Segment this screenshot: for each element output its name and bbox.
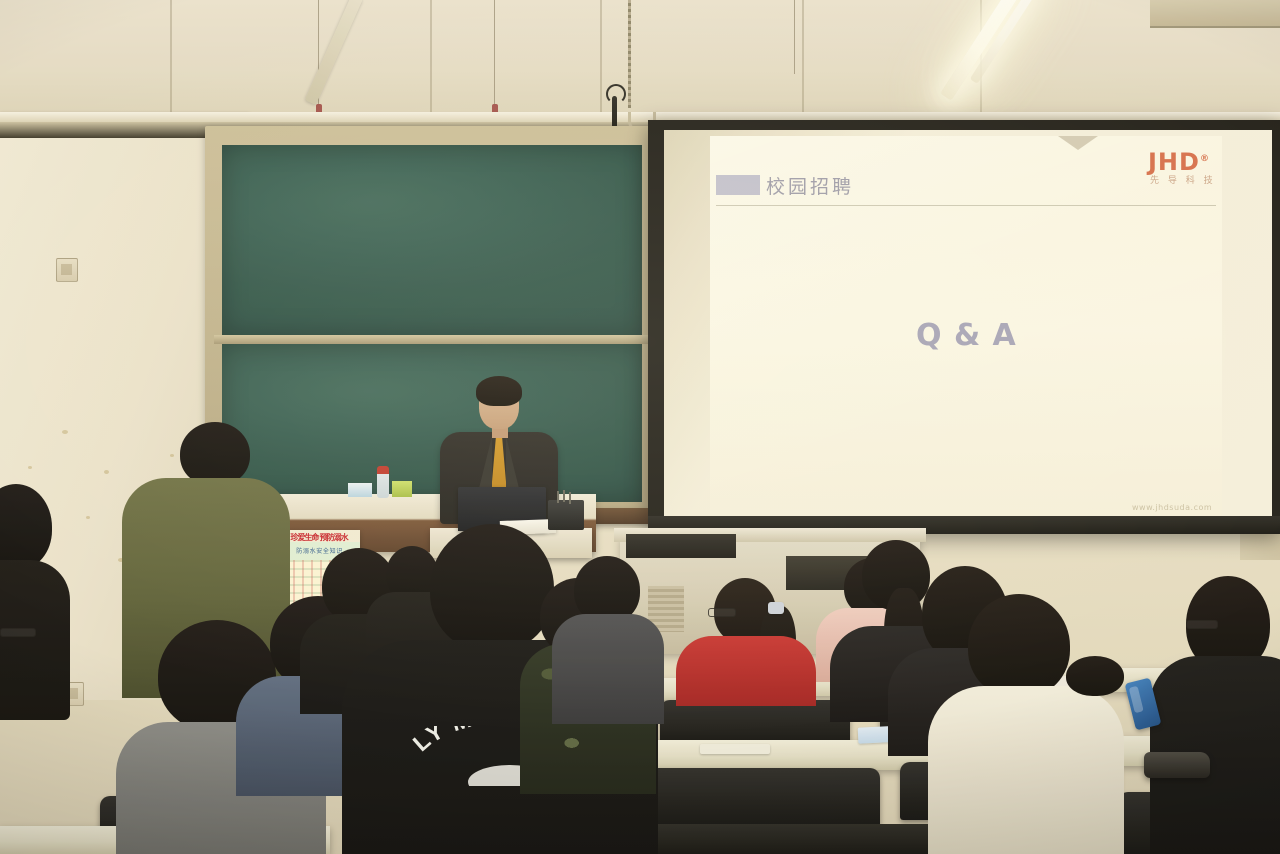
wall-outlet (56, 258, 78, 282)
wall-speck (170, 454, 174, 457)
slide-header-label: 校园招聘 (766, 172, 854, 199)
glasses-icon (708, 608, 736, 617)
jhd-logo: JHD® (1148, 148, 1210, 176)
jhd-logo-subtext: 先 导 科 技 (1150, 173, 1216, 186)
torso (552, 614, 664, 724)
hanger-wire (794, 0, 795, 74)
wall-speck (28, 466, 32, 469)
blackboard-upper-panel (222, 145, 642, 335)
phone-screen-glare (1129, 686, 1144, 713)
camera-bag (1144, 752, 1210, 778)
head (1066, 656, 1124, 696)
wall-speck (104, 470, 109, 474)
torso (928, 686, 1124, 854)
glasses-icon (1186, 620, 1218, 629)
projection-notch (1058, 136, 1098, 150)
slide-footer-url: www.jhdsuda.com (1132, 503, 1212, 512)
audio-equipment (548, 500, 584, 530)
pen-icon (557, 491, 559, 503)
head (968, 594, 1070, 698)
ceiling-seam (170, 0, 172, 118)
chair (640, 768, 880, 828)
poster-headline: 珍爱生命 预防溺水 (278, 532, 360, 543)
green-box (392, 481, 412, 497)
head (430, 524, 554, 652)
hair-clip-icon (768, 602, 784, 614)
pen-icon (569, 492, 571, 504)
water-bottle (377, 466, 389, 498)
slide-body-text: Q & A (916, 318, 1017, 353)
glasses-icon (0, 628, 36, 637)
blackboard-lower-panel (222, 344, 642, 502)
printer (626, 534, 736, 558)
hanging-chain (628, 0, 631, 108)
torso (676, 636, 816, 706)
ceiling-seam (600, 0, 602, 118)
tissue-box (348, 483, 372, 497)
torso (0, 560, 70, 720)
wall-speck (86, 516, 90, 519)
slide-header-rule (716, 205, 1216, 206)
registered-mark-icon: ® (1200, 154, 1210, 164)
blackboard-divider (214, 335, 650, 344)
jhd-logo-text: JHD (1148, 148, 1200, 176)
ceiling-vent (1150, 0, 1280, 28)
ceiling-seam (430, 0, 432, 118)
presenter-hair (476, 376, 522, 406)
ceiling (0, 0, 1280, 128)
slide-header-chip-icon (716, 175, 760, 195)
wall-speck (62, 430, 68, 434)
head (180, 422, 250, 486)
hanger-wire (494, 0, 495, 108)
ceiling-seam (802, 0, 804, 118)
paper-stack (700, 744, 770, 754)
classroom-photo: 校园招聘 Q & A JHD® 先 导 科 技 www.jhdsuda.com … (0, 0, 1280, 854)
pen-icon (563, 490, 565, 502)
